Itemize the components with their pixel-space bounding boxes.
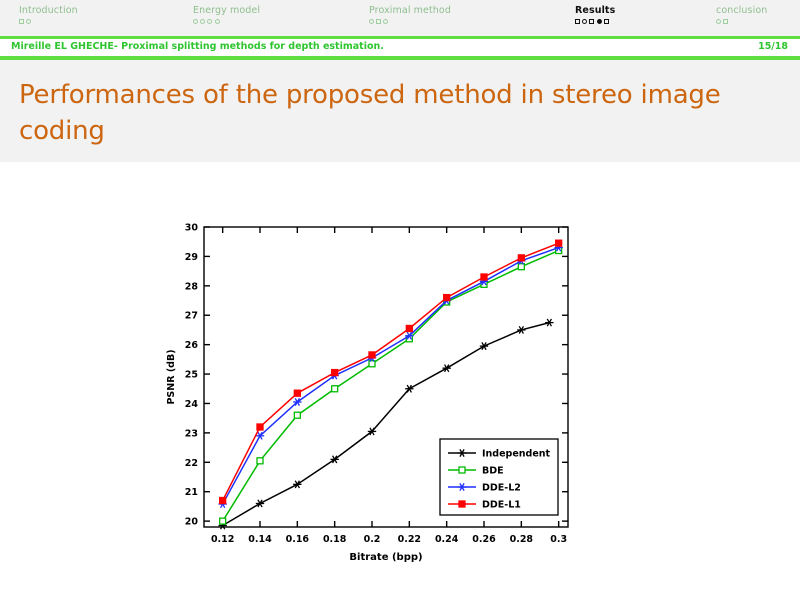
footer-bar: Mireille EL GHECHE- Proximal splitting m… [0, 39, 800, 56]
nav-section-results[interactable]: Results [575, 4, 615, 24]
psnr-bitrate-chart: 0.120.140.160.180.20.220.240.260.280.320… [160, 205, 580, 580]
nav-marker-circle[interactable] [369, 19, 374, 24]
y-tick-label: 28 [185, 281, 199, 292]
x-axis-label: Bitrate (bpp) [349, 552, 422, 563]
data-point-marker [332, 370, 338, 376]
y-tick-label: 20 [185, 517, 199, 528]
nav-marker-square[interactable] [723, 19, 728, 24]
x-tick-label: 0.28 [510, 534, 534, 545]
footer-author-title: Mireille EL GHECHE- Proximal splitting m… [11, 41, 384, 52]
nav-section-label: Proximal method [369, 4, 451, 17]
nav-marker-circle[interactable] [200, 19, 205, 24]
data-point-marker [294, 390, 300, 396]
nav-section-label: conclusion [716, 4, 767, 17]
x-tick-label: 0.2 [364, 534, 381, 545]
y-tick-label: 25 [185, 370, 198, 381]
navigation-bar: Introduction Energy model Proximal metho… [0, 0, 800, 36]
x-tick-label: 0.16 [286, 534, 310, 545]
legend-label: DDE-L2 [482, 483, 521, 494]
nav-section-proximal-method[interactable]: Proximal method [369, 4, 451, 24]
data-point-marker [369, 361, 375, 367]
nav-section-markers[interactable] [19, 19, 78, 24]
y-tick-label: 30 [185, 223, 199, 234]
nav-section-label: Introduction [19, 4, 78, 17]
page-title: Performances of the proposed method in s… [19, 77, 759, 149]
nav-marker-circle[interactable] [215, 19, 220, 24]
nav-section-markers[interactable] [193, 19, 260, 24]
y-tick-label: 23 [185, 428, 198, 439]
nav-section-energy-model[interactable]: Energy model [193, 4, 260, 24]
y-axis-label: PSNR (dB) [166, 349, 177, 404]
nav-section-markers[interactable] [575, 19, 615, 24]
data-point-marker [257, 424, 263, 430]
y-tick-label: 27 [185, 311, 198, 322]
nav-marker-square[interactable] [604, 19, 609, 24]
nav-section-markers[interactable] [369, 19, 451, 24]
data-point-marker [369, 352, 375, 358]
x-tick-label: 0.3 [550, 534, 567, 545]
chart-canvas: 0.120.140.160.180.20.220.240.260.280.320… [160, 205, 580, 580]
data-point-marker [459, 467, 465, 473]
x-tick-label: 0.18 [323, 534, 347, 545]
data-point-marker [459, 501, 465, 507]
slide-root: Introduction Energy model Proximal metho… [0, 0, 800, 600]
data-point-marker [518, 255, 524, 261]
y-tick-label: 29 [185, 252, 198, 263]
data-point-marker [257, 458, 263, 464]
nav-marker-square[interactable] [376, 19, 381, 24]
data-point-marker [518, 264, 524, 270]
data-point-marker [220, 518, 226, 524]
nav-section-label: Energy model [193, 4, 260, 17]
nav-marker-circle[interactable] [383, 19, 388, 24]
nav-marker-square[interactable] [575, 19, 580, 24]
data-point-marker [556, 240, 562, 246]
nav-section-introduction[interactable]: Introduction [19, 4, 78, 24]
x-tick-label: 0.26 [472, 534, 496, 545]
y-tick-label: 21 [185, 487, 198, 498]
data-point-marker [294, 412, 300, 418]
y-tick-label: 22 [185, 458, 198, 469]
x-tick-label: 0.22 [398, 534, 421, 545]
nav-marker-square[interactable] [19, 19, 24, 24]
nav-marker-circle[interactable] [716, 19, 721, 24]
x-tick-label: 0.14 [248, 534, 272, 545]
legend-label: Independent [482, 449, 551, 460]
data-point-marker [332, 386, 338, 392]
data-point-marker [220, 498, 226, 504]
footer-page-number: 15/18 [758, 41, 788, 52]
legend-label: DDE-L1 [482, 500, 521, 511]
nav-section-label: Results [575, 4, 615, 17]
nav-marker-circle[interactable] [26, 19, 31, 24]
nav-marker-circle[interactable] [582, 19, 587, 24]
legend-label: BDE [482, 466, 504, 477]
nav-marker-filled[interactable] [597, 19, 602, 24]
data-point-marker [406, 325, 412, 331]
data-point-marker [444, 295, 450, 301]
title-band: Performances of the proposed method in s… [0, 60, 800, 162]
nav-marker-circle[interactable] [207, 19, 212, 24]
data-point-marker [481, 274, 487, 280]
x-tick-label: 0.12 [211, 534, 234, 545]
y-tick-label: 24 [185, 399, 199, 410]
nav-section-markers[interactable] [716, 19, 767, 24]
nav-marker-square[interactable] [589, 19, 594, 24]
x-tick-label: 0.24 [435, 534, 459, 545]
chart-legend: IndependentBDEDDE-L2DDE-L1 [440, 439, 558, 515]
nav-marker-circle[interactable] [193, 19, 198, 24]
y-tick-label: 26 [185, 340, 199, 351]
nav-section-conclusion[interactable]: conclusion [716, 4, 767, 24]
